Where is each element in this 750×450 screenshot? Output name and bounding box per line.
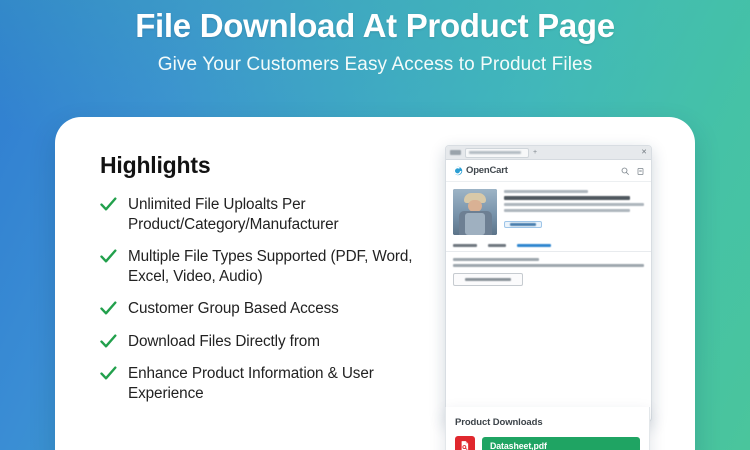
store-name: OpenCart bbox=[466, 165, 508, 176]
description-heading-text bbox=[453, 258, 539, 261]
product-title-text bbox=[504, 196, 630, 200]
list-item: Unlimited File Uploalts Per Product/Cate… bbox=[100, 195, 445, 234]
banner-subtitle: Give Your Customers Easy Access to Produ… bbox=[0, 45, 750, 76]
highlight-text: Unlimited File Uploalts Per Product/Cate… bbox=[128, 195, 445, 234]
highlight-text: Enhance Product Information & User Exper… bbox=[128, 364, 445, 403]
store-header: OpenCart bbox=[446, 160, 651, 182]
product-tab-downloads[interactable] bbox=[517, 244, 551, 247]
downloads-title: Product Downloads bbox=[455, 417, 640, 428]
product-meta-text bbox=[504, 203, 644, 206]
store-header-icons bbox=[621, 167, 644, 175]
highlight-text: Customer Group Based Access bbox=[128, 299, 339, 319]
highlight-text: Download Files Directly from bbox=[128, 332, 320, 352]
highlight-text: Multiple File Types Supported (PDF, Word… bbox=[128, 247, 445, 286]
banner-title: File Download At Product Page bbox=[0, 0, 750, 45]
new-tab-icon[interactable]: + bbox=[533, 149, 537, 156]
banner-header: File Download At Product Page Give Your … bbox=[0, 0, 750, 76]
close-icon[interactable]: ✕ bbox=[641, 149, 647, 156]
list-item: Enhance Product Information & User Exper… bbox=[100, 364, 445, 403]
content-card: Highlights Unlimited File Uploalts Per P… bbox=[55, 117, 695, 450]
browser-tab[interactable] bbox=[465, 148, 529, 158]
browser-controls-icon bbox=[450, 150, 461, 155]
list-item: Download Files Directly from bbox=[100, 332, 445, 352]
product-description bbox=[446, 252, 651, 267]
highlights-section: Highlights Unlimited File Uploalts Per P… bbox=[100, 152, 445, 417]
browser-tab-bar: + ✕ bbox=[446, 146, 651, 160]
product-tab-reviews[interactable] bbox=[488, 244, 506, 247]
download-button[interactable]: Datasheet,pdf bbox=[482, 437, 640, 450]
check-icon bbox=[100, 249, 119, 264]
check-icon bbox=[100, 301, 119, 316]
product-category-text bbox=[504, 190, 588, 193]
description-body-text bbox=[453, 264, 644, 267]
opencart-mark-icon bbox=[453, 166, 463, 176]
product-action-button[interactable] bbox=[453, 273, 523, 286]
cart-icon[interactable] bbox=[637, 167, 644, 175]
list-item: Customer Group Based Access bbox=[100, 299, 445, 319]
product-price-badge bbox=[504, 221, 542, 228]
highlights-heading: Highlights bbox=[100, 152, 445, 179]
pdf-file-icon bbox=[455, 436, 475, 450]
product-details bbox=[504, 189, 644, 235]
highlights-list: Unlimited File Uploalts Per Product/Cate… bbox=[100, 195, 445, 404]
product-meta-text bbox=[504, 209, 630, 212]
check-icon bbox=[100, 334, 119, 349]
search-icon[interactable] bbox=[621, 167, 629, 175]
promo-banner: File Download At Product Page Give Your … bbox=[0, 0, 750, 450]
check-icon bbox=[100, 366, 119, 381]
download-row[interactable]: Datasheet,pdf bbox=[455, 436, 640, 450]
list-item: Multiple File Types Supported (PDF, Word… bbox=[100, 247, 445, 286]
product-summary bbox=[446, 182, 651, 239]
product-tabs bbox=[446, 239, 651, 252]
opencart-logo[interactable]: OpenCart bbox=[453, 165, 508, 176]
product-tab-description[interactable] bbox=[453, 244, 477, 247]
product-downloads-panel: Product Downloads Datasheet,pdf bbox=[445, 407, 650, 450]
product-image bbox=[453, 189, 497, 235]
browser-mockup: + ✕ OpenCart bbox=[445, 145, 652, 422]
check-icon bbox=[100, 197, 119, 212]
